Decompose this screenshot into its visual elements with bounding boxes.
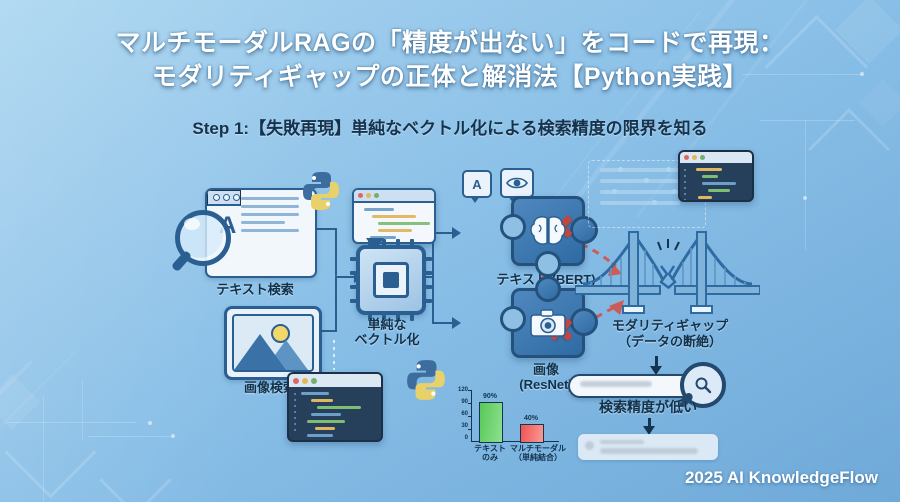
doc-line: [241, 205, 299, 208]
chip-pin: [410, 239, 414, 249]
code-line: [378, 222, 430, 225]
document-card-titlebar: [207, 190, 241, 206]
chip-pin: [422, 299, 432, 303]
code-window-titlebar: [289, 374, 381, 387]
title-line-2: モダリティギャップの正体と解消法【Python実践】: [0, 60, 900, 94]
code-window-connector-dots: [333, 340, 335, 370]
bg-line-3: [6, 422, 136, 423]
code-line: [698, 196, 712, 199]
bg-dot-4: [171, 434, 175, 438]
chip-pin: [350, 299, 360, 303]
window-dot-red-icon: [684, 155, 689, 160]
doc-line: [241, 229, 299, 232]
window-dot-green-icon: [374, 193, 379, 198]
y-tick-mark: [468, 403, 471, 404]
y-tick-mark: [468, 390, 471, 391]
python-logo-svg: [300, 170, 342, 212]
bg-diagonal-5: [0, 350, 77, 500]
magnifier-glint: [184, 218, 200, 230]
bar-multimodal: [520, 424, 544, 443]
chip-core-fill: [383, 272, 399, 288]
window-dot-yellow-icon: [223, 194, 230, 201]
code-window-body: [680, 163, 752, 202]
chip-pin: [422, 285, 432, 289]
code-line: [311, 399, 333, 402]
accuracy-bar-chart: 120 90 60 30 0 90% 40% テキスト のみ マルチモーダル （…: [452, 388, 572, 470]
connector-merge-to-chip: [336, 276, 356, 278]
y-tick-label: 90: [452, 399, 468, 405]
camera-puzzle-icon: [511, 288, 585, 358]
y-tick-label: 60: [452, 411, 468, 417]
python-logo-icon: [404, 358, 448, 402]
brain-glyph: [511, 196, 585, 266]
code-speech-bubble-icon: [352, 188, 436, 244]
gutter-dot: [684, 175, 686, 177]
modality-gap-label-2: （データの断絶）: [585, 334, 755, 349]
magnifier-document-icon: [175, 210, 231, 266]
code-window-body: [289, 387, 381, 442]
bg-vline-2: [43, 396, 44, 502]
chip-pin: [350, 271, 360, 275]
connector-text-to-chip-v: [335, 228, 337, 276]
camera-glyph: [511, 288, 585, 358]
bubble-titlebar: [354, 190, 434, 203]
window-dot-red-icon: [293, 378, 299, 384]
eye-icon: [506, 176, 528, 190]
chip-pin: [368, 239, 372, 249]
result-title-placeholder: [600, 440, 644, 444]
brain-icon: [529, 215, 567, 247]
code-window-icon: [287, 372, 383, 442]
code-window-icon: [678, 150, 754, 202]
gutter-dot: [294, 399, 296, 401]
brain-puzzle-icon: [511, 196, 585, 266]
gutter-dot: [294, 423, 296, 425]
code-line: [315, 427, 335, 430]
camera-icon: [529, 308, 567, 338]
bg-vline-1: [805, 120, 806, 250]
search-result-card[interactable]: [578, 434, 718, 460]
letter-a-bubble-glyph: A: [472, 177, 481, 192]
gutter-dot: [684, 199, 686, 201]
modality-gap-label-1: モダリティギャップ: [585, 318, 755, 333]
gutter-dot: [684, 169, 686, 171]
gutter-dot: [294, 393, 296, 395]
chip-pin: [422, 271, 432, 275]
code-gutter: [684, 169, 686, 202]
arrow-text-encoder: [452, 227, 461, 239]
eye-bubble-icon: [500, 168, 534, 198]
code-line: [372, 215, 416, 218]
y-tick-mark: [468, 429, 471, 430]
window-dot-green-icon: [700, 155, 705, 160]
window-dot-green-icon: [233, 194, 240, 201]
doc-line: [241, 197, 299, 200]
bg-chevron-3: [5, 407, 97, 499]
bg-diagonal-4: [0, 360, 33, 502]
window-dot-yellow-icon: [366, 193, 371, 198]
vectorize-node[interactable]: 単純な ベクトル化: [356, 245, 418, 315]
code-line: [317, 406, 361, 409]
code-line: [307, 420, 345, 423]
window-dot-red-icon: [213, 194, 220, 201]
bar-category-label: マルチモーダル （単純結合）: [504, 444, 572, 462]
text-search-label: テキスト検索: [175, 282, 335, 297]
chip-pin: [350, 257, 360, 261]
bar-value-label: 90%: [476, 393, 504, 400]
doc-line: [241, 213, 299, 216]
result-icon-placeholder: [585, 441, 594, 450]
result-snippet-placeholder: [600, 448, 698, 454]
code-window-titlebar: [680, 152, 752, 163]
gutter-dot: [294, 411, 296, 413]
mountain-front-shape: [234, 334, 286, 370]
gutter-dot: [684, 181, 686, 183]
window-dot-yellow-icon: [302, 378, 308, 384]
code-line: [311, 413, 341, 416]
chip-pin: [396, 239, 400, 249]
python-logo-svg: [404, 358, 448, 402]
y-tick-label: 0: [452, 435, 468, 441]
chip-pin: [422, 257, 432, 261]
code-line: [307, 434, 333, 437]
slide-title: マルチモーダルRAGの「精度が出ない」をコードで再現： モダリティギャップの正体…: [0, 26, 900, 94]
bg-square-3: [0, 374, 40, 431]
slide-subtitle: Step 1:【失敗再現】単純なベクトル化による検索精度の限界を知る: [0, 114, 900, 139]
y-tick-label: 30: [452, 423, 468, 429]
chip-pin: [382, 239, 386, 249]
code-line: [708, 189, 730, 192]
bg-dot-1: [803, 196, 807, 200]
y-tick-mark: [468, 416, 471, 417]
picture-frame-inner: [232, 314, 314, 372]
bg-chevron-4: [99, 444, 171, 502]
window-dot-green-icon: [311, 378, 317, 384]
bg-line-4: [88, 436, 172, 437]
window-dot-yellow-icon: [692, 155, 697, 160]
doc-line: [241, 221, 285, 224]
low-accuracy-label: 検索精度が低い: [558, 400, 738, 415]
code-line: [702, 182, 736, 185]
window-dot-red-icon: [358, 193, 363, 198]
gutter-dot: [294, 429, 296, 431]
y-tick-label: 120: [452, 387, 468, 393]
broken-bridge-svg: [575, 222, 760, 314]
bg-vline-3: [82, 380, 83, 440]
y-axis: [471, 390, 472, 442]
code-gutter: [294, 393, 296, 441]
vectorize-label: 単純な ベクトル化: [307, 317, 467, 347]
gutter-dot: [684, 193, 686, 195]
chip-core-outline: [373, 262, 409, 298]
gutter-dot: [684, 187, 686, 189]
gutter-dot: [294, 405, 296, 407]
bar-text-only: [479, 402, 503, 443]
broken-bridge-icon: [575, 222, 760, 314]
letter-a-bubble-icon: A: [462, 170, 492, 198]
slide-canvas: マルチモーダルRAGの「精度が出ない」をコードで再現： モダリティギャップの正体…: [0, 0, 900, 502]
connector-chip-split-v: [432, 232, 434, 324]
search-input-placeholder: [580, 381, 652, 387]
bg-dot-3: [148, 421, 152, 425]
code-line: [301, 392, 329, 395]
code-line: [378, 229, 412, 232]
title-line-1: マルチモーダルRAGの「精度が出ない」をコードで再現：: [0, 26, 900, 60]
gutter-dot: [294, 417, 296, 419]
chip-pin: [350, 285, 360, 289]
bar-value-label: 40%: [517, 415, 545, 422]
python-logo-icon: [300, 170, 342, 212]
code-line: [364, 208, 394, 211]
cpu-chip-icon: [356, 245, 426, 315]
magnifier-glyph: [694, 376, 712, 394]
footer-watermark: 2025 AI KnowledgeFlow: [685, 468, 878, 488]
code-line: [696, 168, 722, 171]
code-line: [702, 175, 718, 178]
